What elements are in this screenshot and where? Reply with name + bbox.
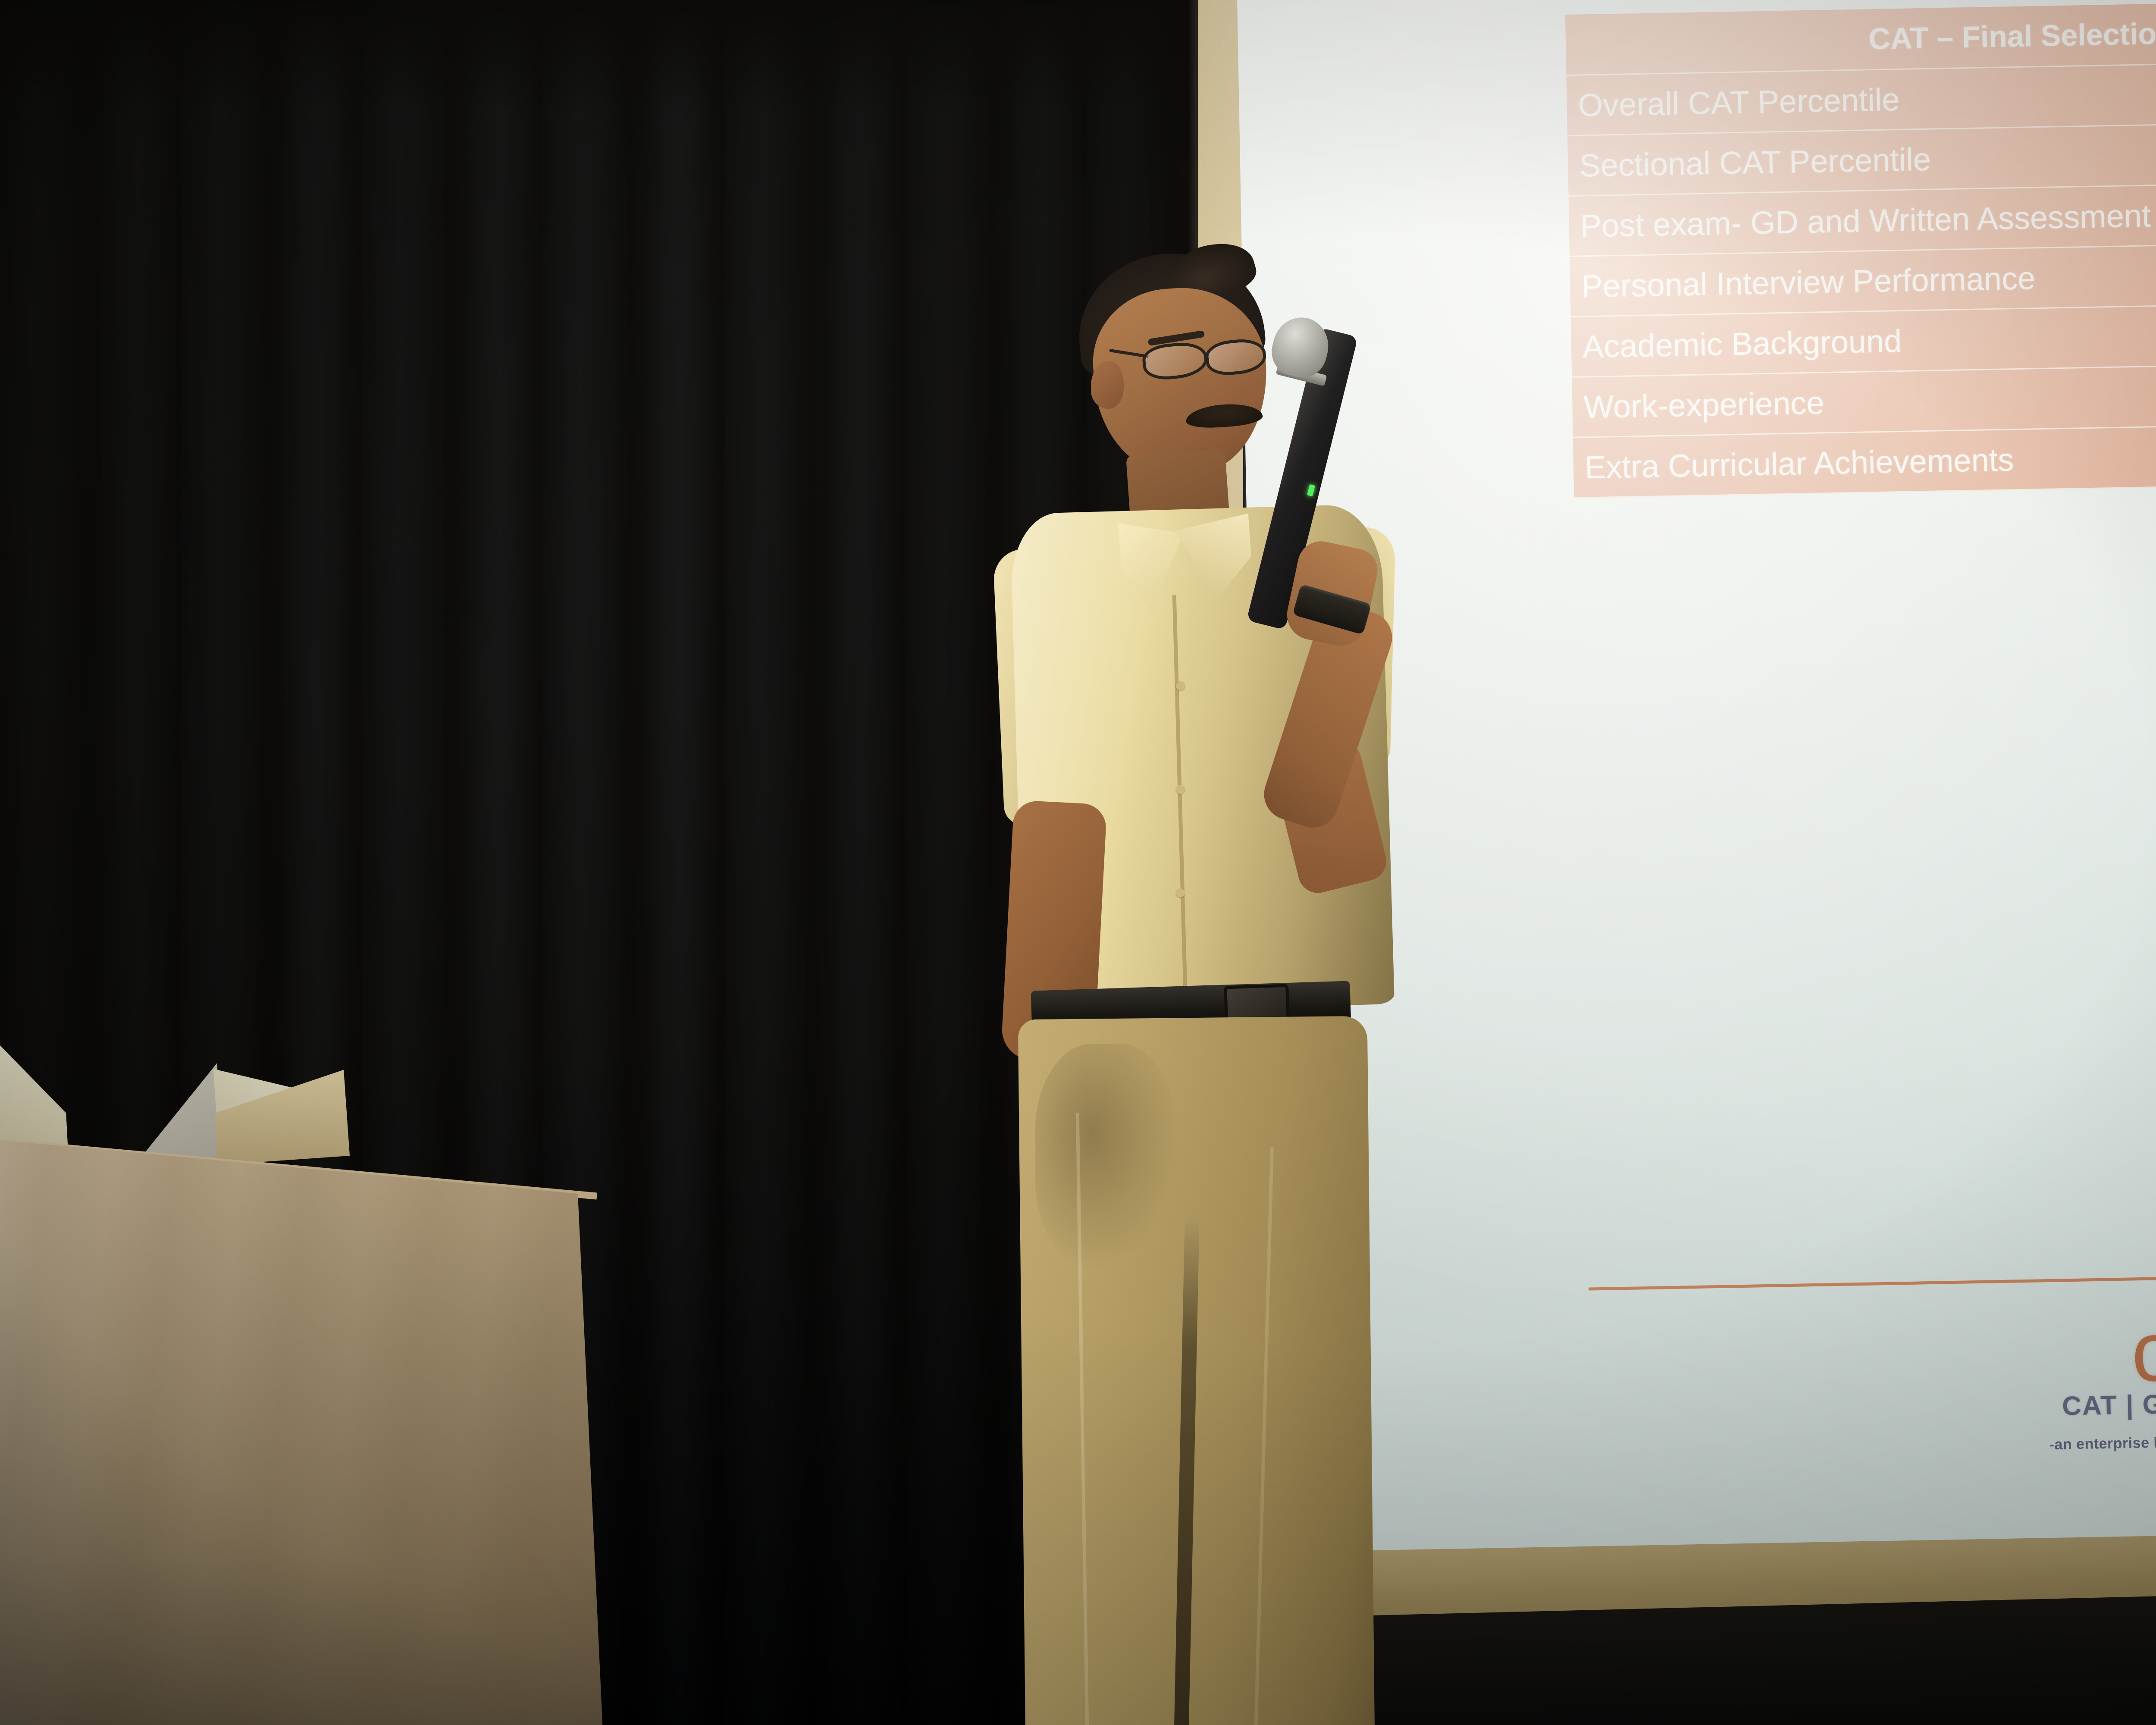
table-header-label: CAT – Final Selection Criteria xyxy=(1565,0,2156,75)
table-header-row: CAT – Final Selection Criteria xyxy=(1565,0,2156,75)
cubix-wordmark: cubix xyxy=(2131,1309,2156,1393)
stage-photo-scene: Final Selections CAT – Final Selection C… xyxy=(0,0,2156,1725)
cubix-logo: cubix CAT | GMAT | GRE | SAT -an enterpr… xyxy=(2029,1307,2156,1454)
trouser-pocket-shadow xyxy=(1035,1044,1177,1268)
table-cloth-folds xyxy=(0,1138,630,1725)
presenter-ear xyxy=(1091,361,1124,409)
shirt-button xyxy=(1176,681,1185,690)
shirt-button xyxy=(1176,785,1185,794)
curtain-top-shadow xyxy=(0,0,1242,112)
shirt-button xyxy=(1176,888,1185,897)
slide-footer-divider xyxy=(1589,1269,2156,1291)
criteria-table: CAT – Final Selection Criteria Overall C… xyxy=(1565,0,2156,498)
name-tent-card xyxy=(126,1040,349,1167)
cubix-tagline: -an enterprise by IIT-KGP & MDI -Gurgaon… xyxy=(2031,1430,2156,1454)
presenter xyxy=(983,224,1630,1725)
